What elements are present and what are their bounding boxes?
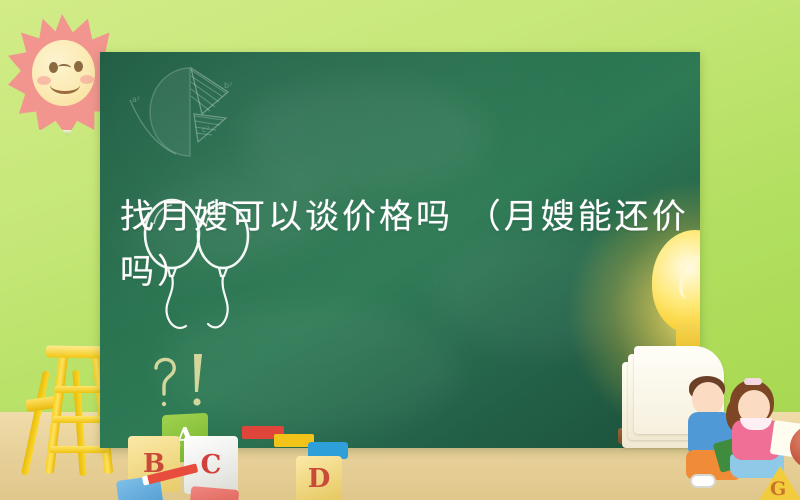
ladder-rung: [52, 416, 107, 423]
scene-illustration: a² b² c²: [0, 0, 800, 500]
sun-face: [32, 40, 95, 106]
sun-cheek-right: [80, 75, 94, 84]
svg-text:a²: a²: [132, 95, 140, 104]
svg-text:c²: c²: [202, 125, 210, 134]
sun-eye-left: [49, 62, 58, 73]
boy-head: [692, 382, 724, 416]
girl-hair-bow: [744, 378, 762, 385]
chalkboard: a² b² c²: [100, 52, 700, 448]
page-title: 找月嫂可以谈价格吗 （月嫂能还价吗）: [120, 190, 700, 300]
chalk-pie-sphere-icon: a² b² c²: [128, 58, 238, 170]
sun-wink-brow: [58, 64, 71, 72]
svg-text:b²: b²: [224, 81, 232, 90]
sun-smile: [50, 76, 80, 94]
sun-cheek-left: [37, 76, 51, 85]
boy-shoe: [690, 474, 716, 488]
triangle-block-g-label: G: [770, 478, 786, 500]
ladder-rung: [54, 386, 104, 393]
block-d: D: [296, 456, 342, 500]
question-exclamation-doodle-icon: [148, 350, 222, 414]
sun-eye-right: [74, 61, 83, 72]
ladder-top-plate: [46, 345, 108, 358]
